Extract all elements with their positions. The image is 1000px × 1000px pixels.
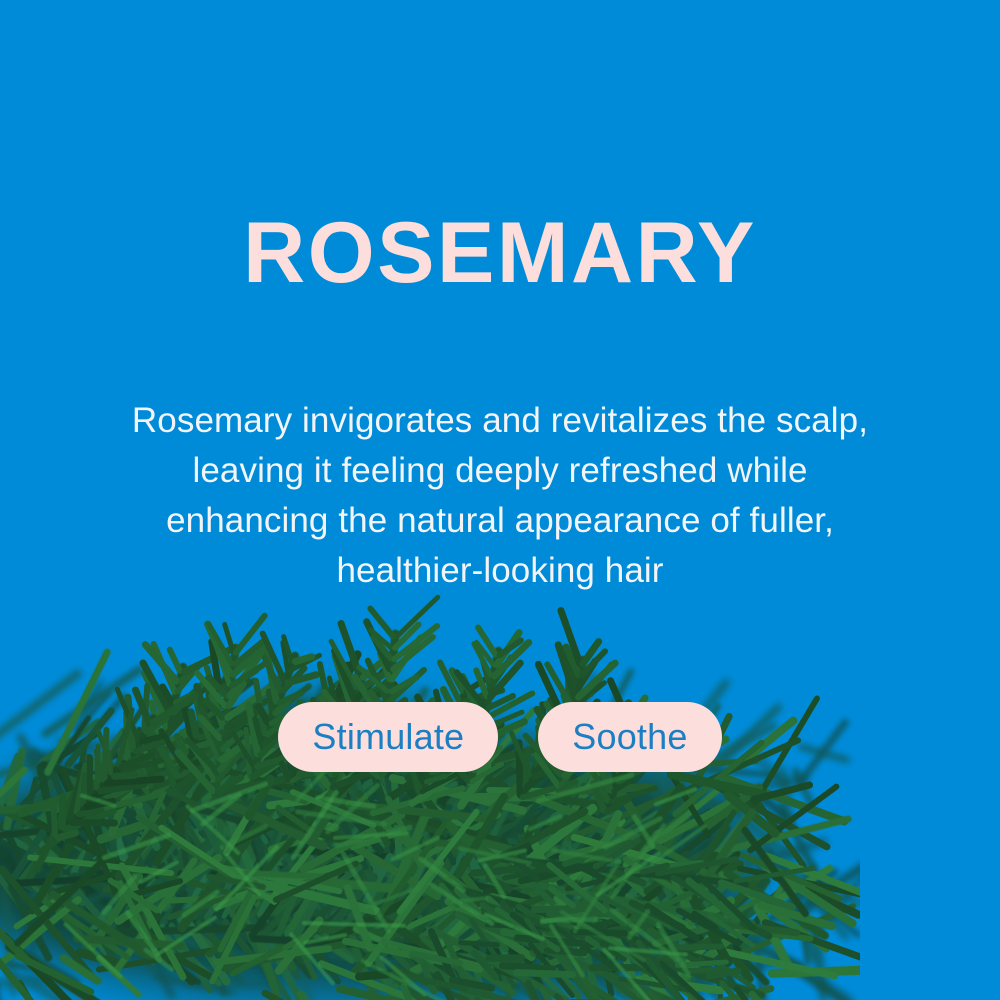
rosemary-needle bbox=[494, 863, 527, 891]
rosemary-needle bbox=[338, 824, 369, 857]
rosemary-needle bbox=[89, 784, 116, 801]
rosemary-needle bbox=[330, 903, 368, 937]
rosemary-needle bbox=[172, 771, 209, 797]
rosemary-needle bbox=[202, 944, 285, 969]
rosemary-needle bbox=[326, 893, 419, 945]
rosemary-needle bbox=[511, 897, 565, 956]
rosemary-needle bbox=[676, 927, 720, 978]
rosemary-needle bbox=[669, 873, 695, 926]
rosemary-needle bbox=[628, 781, 688, 857]
rosemary-needle bbox=[598, 769, 615, 795]
rosemary-needle bbox=[733, 847, 774, 912]
rosemary-needle bbox=[301, 863, 368, 909]
rosemary-needle bbox=[500, 855, 749, 888]
rosemary-needle bbox=[445, 803, 514, 865]
rosemary-needle bbox=[676, 872, 743, 946]
rosemary-needle bbox=[219, 940, 347, 971]
rosemary-needle bbox=[90, 919, 410, 937]
rosemary-needle bbox=[328, 953, 431, 968]
rosemary-needle bbox=[209, 862, 344, 894]
rosemary-needle bbox=[342, 882, 375, 953]
rosemary-needle bbox=[265, 862, 302, 913]
rosemary-needle bbox=[81, 772, 153, 835]
rosemary-needle bbox=[130, 775, 449, 815]
rosemary-needle bbox=[322, 787, 365, 842]
rosemary-needle bbox=[197, 800, 274, 815]
rosemary-sprigs-image bbox=[0, 580, 860, 1000]
rosemary-needle bbox=[444, 820, 550, 908]
description-line: enhancing the natural appearance of full… bbox=[60, 496, 940, 546]
rosemary-needle bbox=[118, 873, 164, 963]
rosemary-needle bbox=[76, 776, 153, 798]
rosemary-needle bbox=[154, 776, 182, 812]
rosemary-needle bbox=[498, 794, 522, 840]
benefit-pill-soothe[interactable]: Soothe bbox=[538, 702, 721, 772]
rosemary-needle bbox=[533, 778, 585, 864]
rosemary-needle bbox=[238, 810, 270, 847]
rosemary-needle bbox=[350, 875, 454, 977]
rosemary-needle bbox=[204, 826, 238, 865]
rosemary-needle bbox=[54, 764, 102, 853]
rosemary-needle bbox=[213, 666, 261, 701]
rosemary-needle bbox=[52, 875, 83, 917]
rosemary-needle bbox=[776, 801, 828, 893]
rosemary-needle bbox=[264, 864, 311, 906]
rosemary-needle bbox=[411, 777, 456, 808]
rosemary-needle bbox=[253, 781, 342, 885]
rosemary-needle bbox=[499, 842, 533, 861]
rosemary-needle bbox=[267, 822, 341, 855]
rosemary-needle bbox=[644, 878, 722, 921]
rosemary-needle bbox=[273, 915, 325, 976]
rosemary-needle bbox=[420, 899, 486, 967]
rosemary-needle bbox=[222, 788, 254, 812]
rosemary-needle bbox=[633, 807, 713, 864]
rosemary-needle bbox=[12, 891, 69, 931]
rosemary-needle bbox=[700, 782, 765, 833]
rosemary-needle bbox=[321, 932, 403, 988]
rosemary-needle bbox=[675, 960, 729, 969]
rosemary-needle bbox=[174, 807, 201, 887]
rosemary-needle bbox=[641, 862, 685, 903]
rosemary-needle bbox=[150, 639, 179, 695]
rosemary-needle bbox=[478, 901, 515, 930]
rosemary-needle bbox=[113, 810, 164, 849]
rosemary-needle bbox=[364, 657, 391, 705]
rosemary-needle bbox=[148, 832, 187, 875]
rosemary-needle bbox=[513, 969, 576, 979]
rosemary-needle bbox=[666, 769, 769, 800]
benefit-pill-stimulate[interactable]: Stimulate bbox=[278, 702, 498, 772]
rosemary-needle bbox=[608, 781, 685, 837]
rosemary-needle bbox=[623, 858, 659, 909]
rosemary-needle bbox=[472, 666, 491, 700]
rosemary-needle bbox=[379, 869, 447, 900]
rosemary-needle bbox=[391, 963, 477, 1000]
rosemary-needle bbox=[261, 988, 322, 1000]
rosemary-needle bbox=[384, 797, 422, 834]
rosemary-needle bbox=[162, 793, 210, 922]
rosemary-needle bbox=[348, 768, 411, 848]
rosemary-needle bbox=[255, 878, 281, 919]
rosemary-needle bbox=[589, 983, 684, 1000]
rosemary-needle bbox=[193, 776, 215, 810]
rosemary-needle bbox=[686, 922, 746, 951]
rosemary-needle bbox=[706, 912, 756, 949]
rosemary-needle bbox=[758, 901, 817, 948]
rosemary-needle bbox=[198, 790, 234, 830]
rosemary-needle bbox=[226, 646, 268, 700]
rosemary-needle bbox=[727, 810, 796, 887]
rosemary-needle bbox=[254, 950, 313, 1000]
rosemary-needle bbox=[690, 967, 730, 975]
rosemary-needle bbox=[292, 862, 365, 920]
rosemary-needle bbox=[198, 871, 264, 944]
rosemary-needle bbox=[547, 885, 577, 910]
rosemary-needle bbox=[359, 856, 428, 896]
rosemary-needle bbox=[555, 842, 624, 900]
rosemary-needle bbox=[157, 825, 245, 876]
rosemary-needle bbox=[141, 874, 184, 928]
rosemary-needle bbox=[632, 860, 677, 935]
rosemary-needle bbox=[211, 862, 245, 915]
rosemary-needle bbox=[174, 771, 204, 790]
rosemary-needle bbox=[213, 917, 258, 947]
rosemary-needle bbox=[730, 892, 782, 950]
rosemary-needle bbox=[367, 891, 413, 929]
rosemary-needle bbox=[692, 808, 738, 875]
rosemary-needle bbox=[257, 861, 288, 893]
rosemary-needle bbox=[471, 787, 519, 837]
rosemary-needle bbox=[85, 871, 165, 952]
rosemary-needle bbox=[145, 777, 180, 858]
rosemary-needle bbox=[425, 883, 453, 932]
rosemary-needle bbox=[12, 768, 65, 832]
rosemary-needle bbox=[463, 676, 489, 696]
rosemary-needle bbox=[486, 806, 591, 868]
rosemary-needle bbox=[481, 815, 520, 857]
rosemary-needle bbox=[525, 783, 571, 844]
rosemary-needle bbox=[776, 863, 819, 924]
rosemary-needle bbox=[482, 810, 544, 842]
rosemary-needle bbox=[364, 846, 392, 896]
rosemary-needle bbox=[112, 805, 146, 868]
rosemary-needle bbox=[429, 766, 473, 810]
rosemary-needle bbox=[599, 904, 620, 940]
rosemary-needle bbox=[812, 924, 828, 1000]
rosemary-needle bbox=[173, 792, 192, 882]
rosemary-needle bbox=[49, 820, 90, 856]
rosemary-needle bbox=[396, 808, 482, 917]
rosemary-needle bbox=[266, 914, 307, 940]
rosemary-needle bbox=[248, 936, 302, 1000]
rosemary-needle bbox=[570, 820, 619, 853]
rosemary-needle bbox=[49, 790, 92, 826]
rosemary-needle bbox=[335, 834, 362, 868]
rosemary-needle bbox=[0, 788, 19, 840]
rosemary-needle bbox=[104, 776, 165, 788]
rosemary-needle bbox=[232, 611, 270, 657]
rosemary-needle bbox=[452, 873, 507, 932]
rosemary-needle bbox=[733, 984, 760, 1000]
rosemary-needle bbox=[439, 828, 477, 895]
rosemary-needle bbox=[345, 768, 465, 805]
rosemary-needle bbox=[222, 791, 265, 858]
rosemary-needle bbox=[578, 885, 664, 955]
rosemary-needle bbox=[422, 891, 481, 945]
rosemary-needle bbox=[367, 769, 405, 799]
rosemary-needle bbox=[257, 805, 299, 853]
rosemary-needle bbox=[437, 809, 492, 854]
rosemary-needle bbox=[88, 769, 138, 826]
rosemary-needle bbox=[328, 802, 446, 835]
rosemary-needle bbox=[222, 814, 250, 905]
rosemary-needle bbox=[290, 789, 340, 861]
rosemary-needle bbox=[692, 958, 785, 985]
rosemary-needle bbox=[425, 870, 468, 918]
rosemary-needle bbox=[378, 880, 455, 887]
rosemary-needle bbox=[483, 896, 512, 988]
rosemary-needle bbox=[211, 636, 233, 687]
rosemary-needle bbox=[380, 832, 405, 870]
rosemary-needle bbox=[84, 806, 119, 876]
rosemary-needle bbox=[757, 792, 792, 824]
rosemary-needle bbox=[330, 795, 628, 844]
rosemary-needle bbox=[499, 810, 565, 875]
rosemary-needle bbox=[105, 783, 136, 801]
rosemary-needle bbox=[579, 784, 621, 832]
rosemary-needle bbox=[241, 772, 291, 795]
rosemary-needle bbox=[54, 829, 80, 842]
rosemary-needle bbox=[778, 766, 792, 814]
rosemary-needle bbox=[358, 790, 414, 832]
rosemary-needle bbox=[168, 863, 220, 911]
rosemary-needle bbox=[443, 824, 495, 876]
rosemary-needle bbox=[402, 832, 452, 896]
rosemary-needle bbox=[82, 797, 117, 811]
rosemary-needle bbox=[277, 783, 293, 829]
rosemary-needle bbox=[162, 892, 289, 904]
rosemary-needle bbox=[521, 902, 575, 963]
rosemary-needle bbox=[111, 778, 142, 792]
rosemary-needle bbox=[667, 870, 701, 925]
rosemary-needle bbox=[135, 877, 188, 917]
rosemary-needle bbox=[220, 917, 259, 964]
rosemary-needle bbox=[270, 845, 600, 875]
rosemary-needle bbox=[180, 889, 219, 918]
rosemary-needle bbox=[131, 769, 192, 814]
rosemary-needle bbox=[437, 848, 482, 897]
rosemary-needle bbox=[304, 845, 342, 872]
rosemary-needle bbox=[582, 909, 625, 992]
rosemary-needle bbox=[484, 873, 514, 893]
rosemary-needle bbox=[528, 864, 625, 958]
rosemary-needle bbox=[610, 930, 646, 1000]
rosemary-needle bbox=[650, 865, 683, 920]
rosemary-needle bbox=[456, 810, 515, 837]
rosemary-needle bbox=[521, 790, 655, 848]
rosemary-needle bbox=[317, 865, 352, 936]
rosemary-needle bbox=[277, 828, 311, 852]
rosemary-needle bbox=[666, 804, 747, 838]
rosemary-needle bbox=[738, 927, 813, 942]
rosemary-needle bbox=[100, 792, 159, 811]
rosemary-needle bbox=[503, 866, 553, 900]
rosemary-needle bbox=[780, 957, 860, 1000]
rosemary-needle bbox=[29, 819, 70, 890]
rosemary-needle bbox=[592, 838, 654, 915]
rosemary-needle bbox=[45, 970, 90, 1000]
rosemary-needle bbox=[420, 961, 438, 995]
rosemary-needle bbox=[172, 776, 232, 835]
rosemary-needle bbox=[283, 888, 318, 939]
rosemary-needle bbox=[552, 813, 598, 849]
rosemary-needle bbox=[560, 916, 591, 947]
rosemary-needle bbox=[186, 872, 259, 924]
rosemary-needle bbox=[76, 788, 112, 821]
rosemary-needle bbox=[507, 813, 539, 907]
rosemary-needle bbox=[371, 867, 405, 922]
rosemary-needle bbox=[598, 940, 627, 963]
rosemary-needle bbox=[237, 930, 341, 938]
rosemary-needle bbox=[498, 899, 544, 958]
rosemary-needle bbox=[383, 893, 404, 950]
rosemary-needle bbox=[284, 914, 345, 956]
rosemary-needle bbox=[113, 804, 139, 910]
rosemary-needle bbox=[582, 900, 638, 965]
rosemary-needle bbox=[301, 853, 355, 919]
rosemary-needle bbox=[35, 848, 79, 882]
rosemary-needle bbox=[73, 934, 185, 950]
rosemary-needle bbox=[66, 768, 87, 824]
rosemary-needle bbox=[598, 831, 631, 867]
rosemary-needle bbox=[228, 658, 271, 689]
rosemary-needle bbox=[218, 676, 251, 693]
rosemary-needle bbox=[473, 808, 517, 839]
rosemary-needle bbox=[212, 882, 274, 912]
rosemary-needle bbox=[312, 786, 354, 848]
rosemary-needle bbox=[475, 941, 519, 990]
rosemary-needle bbox=[61, 873, 122, 941]
rosemary-needle bbox=[485, 922, 557, 931]
rosemary-needle bbox=[394, 892, 424, 962]
rosemary-needle bbox=[242, 853, 325, 912]
rosemary-needle bbox=[97, 869, 162, 926]
rosemary-needle bbox=[694, 810, 755, 883]
rosemary-needle bbox=[159, 815, 241, 870]
rosemary-needle bbox=[514, 902, 574, 943]
rosemary-needle bbox=[483, 894, 537, 945]
rosemary-needle bbox=[348, 825, 394, 880]
rosemary-needle bbox=[579, 890, 629, 927]
rosemary-needle bbox=[624, 860, 705, 875]
rosemary-needle bbox=[718, 979, 746, 1000]
rosemary-needle bbox=[355, 789, 392, 848]
rosemary-needle bbox=[739, 851, 844, 903]
rosemary-needle bbox=[565, 790, 676, 842]
rosemary-needle bbox=[746, 782, 841, 854]
rosemary-needle bbox=[345, 765, 361, 820]
rosemary-needle bbox=[576, 877, 640, 911]
rosemary-needle bbox=[648, 824, 707, 867]
rosemary-needle bbox=[486, 787, 564, 794]
rosemary-needle bbox=[363, 858, 446, 968]
rosemary-needle bbox=[112, 774, 137, 813]
rosemary-needle bbox=[556, 644, 580, 690]
rosemary-needle bbox=[181, 776, 232, 815]
rosemary-needle bbox=[31, 769, 96, 827]
rosemary-needle bbox=[561, 823, 621, 886]
rosemary-needle bbox=[202, 805, 246, 858]
rosemary-needle bbox=[588, 964, 660, 971]
rosemary-needle bbox=[464, 899, 515, 907]
rosemary-needle bbox=[705, 967, 743, 980]
rosemary-needle bbox=[361, 867, 387, 920]
rosemary-needle bbox=[476, 869, 506, 898]
rosemary-needle bbox=[399, 800, 424, 858]
rosemary-needle bbox=[345, 797, 379, 833]
rosemary-needle bbox=[678, 928, 698, 1000]
rosemary-needle bbox=[170, 861, 240, 941]
rosemary-needle bbox=[290, 865, 313, 901]
rosemary-needle bbox=[718, 920, 780, 966]
rosemary-needle bbox=[507, 856, 550, 927]
rosemary-needle bbox=[454, 782, 514, 836]
rosemary-needle bbox=[124, 815, 188, 870]
rosemary-needle bbox=[229, 865, 280, 905]
rosemary-needle bbox=[591, 870, 641, 908]
rosemary-needle bbox=[412, 857, 471, 896]
rosemary-needle bbox=[80, 793, 117, 808]
rosemary-needle bbox=[154, 914, 218, 957]
rosemary-needle bbox=[417, 801, 446, 842]
rosemary-needle bbox=[88, 931, 116, 964]
rosemary-needle bbox=[427, 927, 459, 985]
rosemary-needle bbox=[166, 805, 232, 874]
rosemary-needle bbox=[650, 921, 662, 994]
rosemary-needle bbox=[799, 912, 811, 966]
rosemary-needle bbox=[595, 851, 661, 898]
rosemary-needle bbox=[311, 847, 337, 913]
rosemary-needle bbox=[274, 856, 314, 939]
rosemary-needle bbox=[589, 827, 634, 854]
rosemary-needle bbox=[358, 891, 413, 939]
rosemary-needle bbox=[408, 768, 435, 805]
rosemary-needle bbox=[390, 919, 417, 949]
rosemary-needle bbox=[439, 880, 729, 969]
rosemary-needle bbox=[488, 833, 530, 919]
rosemary-needle bbox=[675, 907, 740, 947]
rosemary-needle bbox=[483, 913, 511, 947]
rosemary-needle bbox=[216, 879, 259, 954]
rosemary-needle bbox=[565, 877, 608, 893]
rosemary-needle bbox=[184, 769, 231, 811]
rosemary-needle bbox=[569, 848, 582, 897]
rosemary-needle bbox=[342, 687, 387, 701]
rosemary-needle bbox=[762, 851, 860, 908]
rosemary-needle bbox=[263, 784, 303, 868]
rosemary-needle bbox=[269, 781, 325, 839]
rosemary-needle bbox=[411, 892, 464, 977]
rosemary-needle bbox=[485, 954, 525, 962]
rosemary-needle bbox=[43, 841, 155, 862]
rosemary-needle bbox=[663, 849, 743, 909]
rosemary-needle bbox=[396, 802, 479, 871]
rosemary-needle bbox=[132, 925, 198, 987]
rosemary-needle bbox=[478, 810, 532, 881]
rosemary-needle bbox=[460, 846, 484, 879]
rosemary-needle bbox=[469, 948, 500, 982]
